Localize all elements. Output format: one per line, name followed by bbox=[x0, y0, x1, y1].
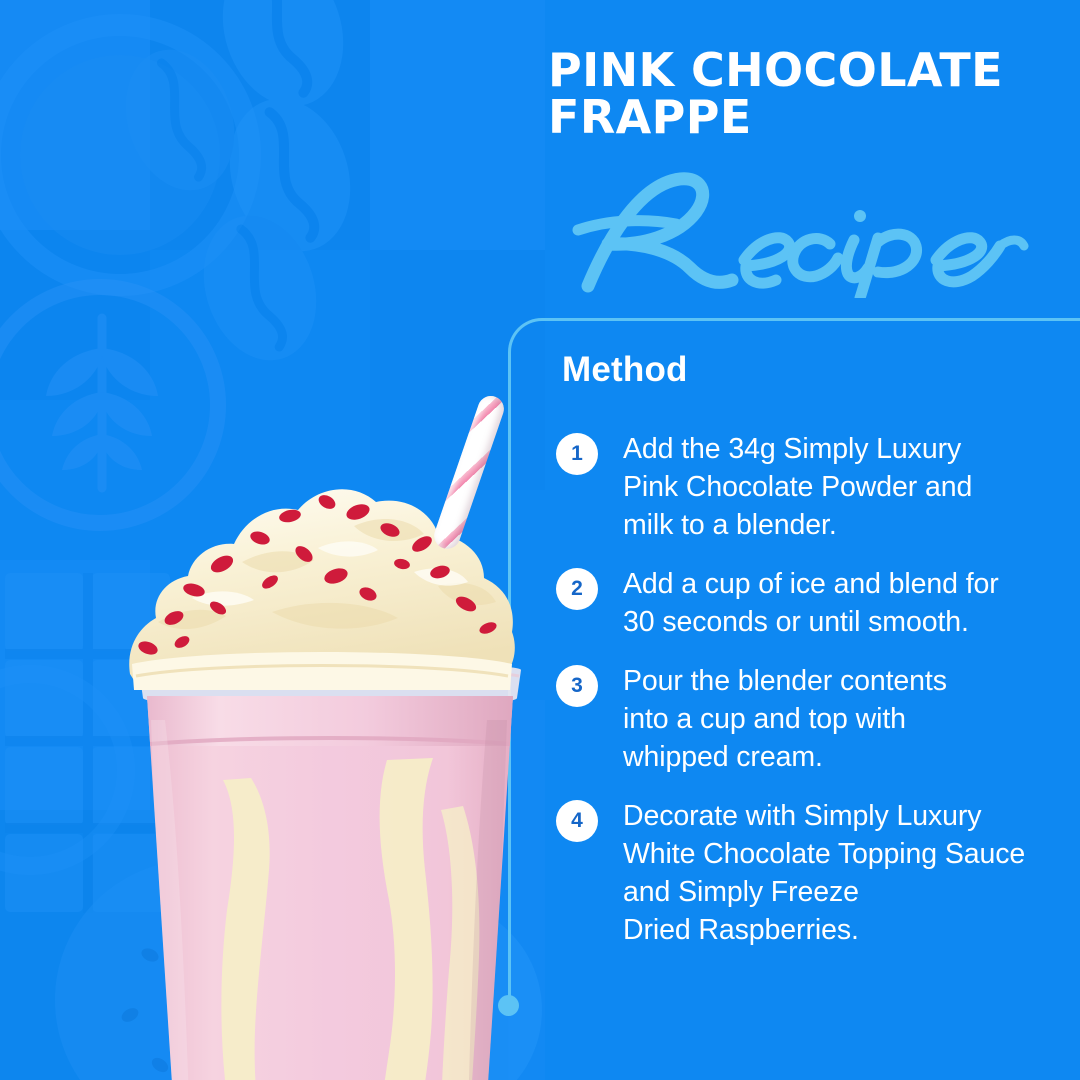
page-title: PINK CHOCOLATE FRAPPE bbox=[548, 47, 1068, 141]
step-text: Decorate with Simply Luxury White Chocol… bbox=[623, 797, 1025, 949]
step-number-badge: 3 bbox=[556, 665, 598, 707]
list-item: 1 Add the 34g Simply Luxury Pink Chocola… bbox=[556, 430, 1066, 544]
product-photo bbox=[60, 190, 530, 990]
step-number-badge: 4 bbox=[556, 800, 598, 842]
step-number-badge: 1 bbox=[556, 433, 598, 475]
step-text: Add the 34g Simply Luxury Pink Chocolate… bbox=[623, 430, 972, 544]
cup-svg bbox=[135, 660, 525, 1080]
list-item: 2 Add a cup of ice and blend for 30 seco… bbox=[556, 565, 1066, 641]
recipe-card: PINK CHOCOLATE FRAPPE Recipe bbox=[0, 0, 1080, 1080]
method-steps-list: 1 Add the 34g Simply Luxury Pink Chocola… bbox=[556, 430, 1066, 949]
recipe-script-word: Recipe bbox=[548, 168, 1048, 298]
step-text: Pour the blender contents into a cup and… bbox=[623, 662, 947, 776]
list-item: 4 Decorate with Simply Luxury White Choc… bbox=[556, 797, 1066, 949]
step-number-badge: 2 bbox=[556, 568, 598, 610]
list-item: 3 Pour the blender contents into a cup a… bbox=[556, 662, 1066, 776]
method-heading: Method bbox=[562, 350, 688, 390]
recipe-script-svg: Recipe bbox=[548, 168, 1048, 298]
step-text: Add a cup of ice and blend for 30 second… bbox=[623, 565, 999, 641]
frappe-cup bbox=[135, 660, 525, 1080]
